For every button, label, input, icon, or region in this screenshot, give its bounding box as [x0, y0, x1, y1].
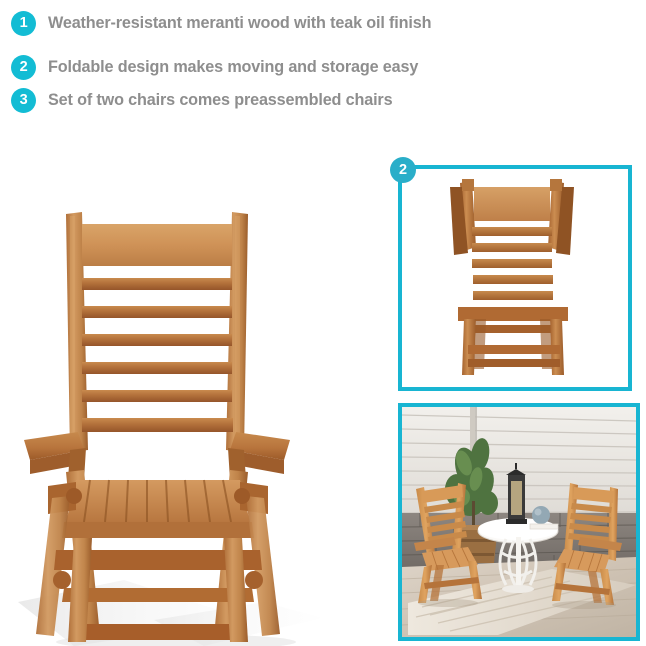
main-product-image — [4, 150, 350, 646]
chair-backrest — [66, 212, 248, 452]
inset-folded-chair: 2 — [398, 165, 632, 391]
feature-row: 1 Weather-resistant meranti wood with te… — [11, 11, 431, 36]
feature-badge-3: 3 — [11, 88, 36, 113]
feature-row: 2 Foldable design makes moving and stora… — [11, 55, 418, 80]
feature-text-2: Foldable design makes moving and storage… — [48, 58, 418, 77]
chair-seat — [48, 480, 268, 538]
inset-patio-photo — [398, 403, 640, 641]
feature-row: 3 Set of two chairs comes preassembled c… — [11, 88, 392, 113]
feature-list: 1 Weather-resistant meranti wood with te… — [0, 0, 646, 124]
feature-badge-2: 2 — [11, 55, 36, 80]
folded-backrest — [472, 187, 553, 300]
feature-badge-1: 1 — [11, 11, 36, 36]
feature-text-3: Set of two chairs comes preassembled cha… — [48, 91, 392, 110]
feature-text-1: Weather-resistant meranti wood with teak… — [48, 14, 431, 33]
inset-badge-2: 2 — [390, 157, 416, 183]
